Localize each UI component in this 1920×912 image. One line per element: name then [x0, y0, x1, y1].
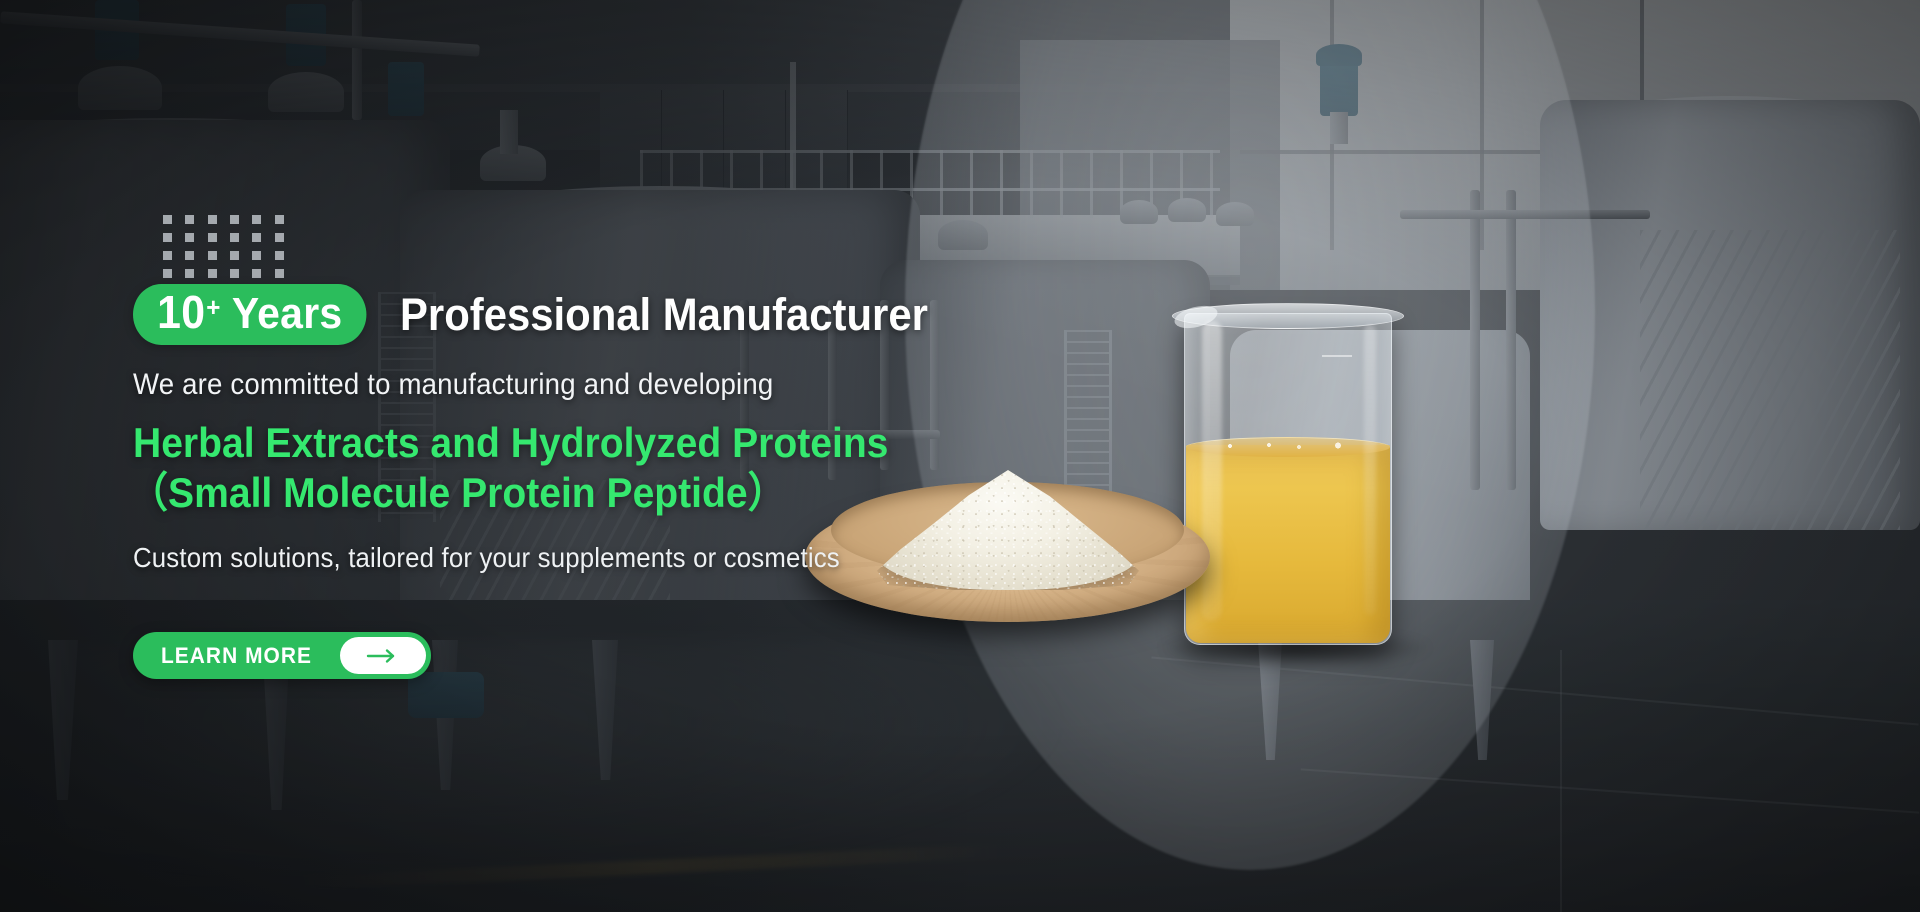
years-plus-superscript: + — [206, 294, 220, 320]
arrow-right-icon — [340, 637, 426, 674]
hero-content: 10+Years Professional Manufacturer We ar… — [133, 0, 1013, 912]
page-title: Professional Manufacturer — [400, 292, 928, 337]
years-badge: 10+Years — [133, 284, 367, 345]
beaker-bubbles — [1212, 441, 1362, 451]
hero-banner: 10+Years Professional Manufacturer We ar… — [0, 0, 1920, 912]
dot-grid-icon — [163, 215, 287, 273]
headline-row: 10+Years Professional Manufacturer — [133, 284, 968, 345]
subline-one: We are committed to manufacturing and de… — [133, 368, 773, 402]
beaker-graduation-mark — [1322, 355, 1352, 357]
learn-more-label: LEARN MORE — [161, 643, 312, 669]
highlight-line-one: Herbal Extracts and Hydrolyzed Proteins — [133, 420, 888, 465]
years-number: 10 — [157, 289, 205, 335]
beaker-highlight — [1364, 325, 1376, 615]
learn-more-button[interactable]: LEARN MORE — [133, 632, 431, 679]
highlight-line-two: （Small Molecule Protein Peptide） — [129, 470, 787, 515]
subline-two: Custom solutions, tailored for your supp… — [133, 542, 840, 574]
years-unit: Years — [232, 292, 343, 336]
